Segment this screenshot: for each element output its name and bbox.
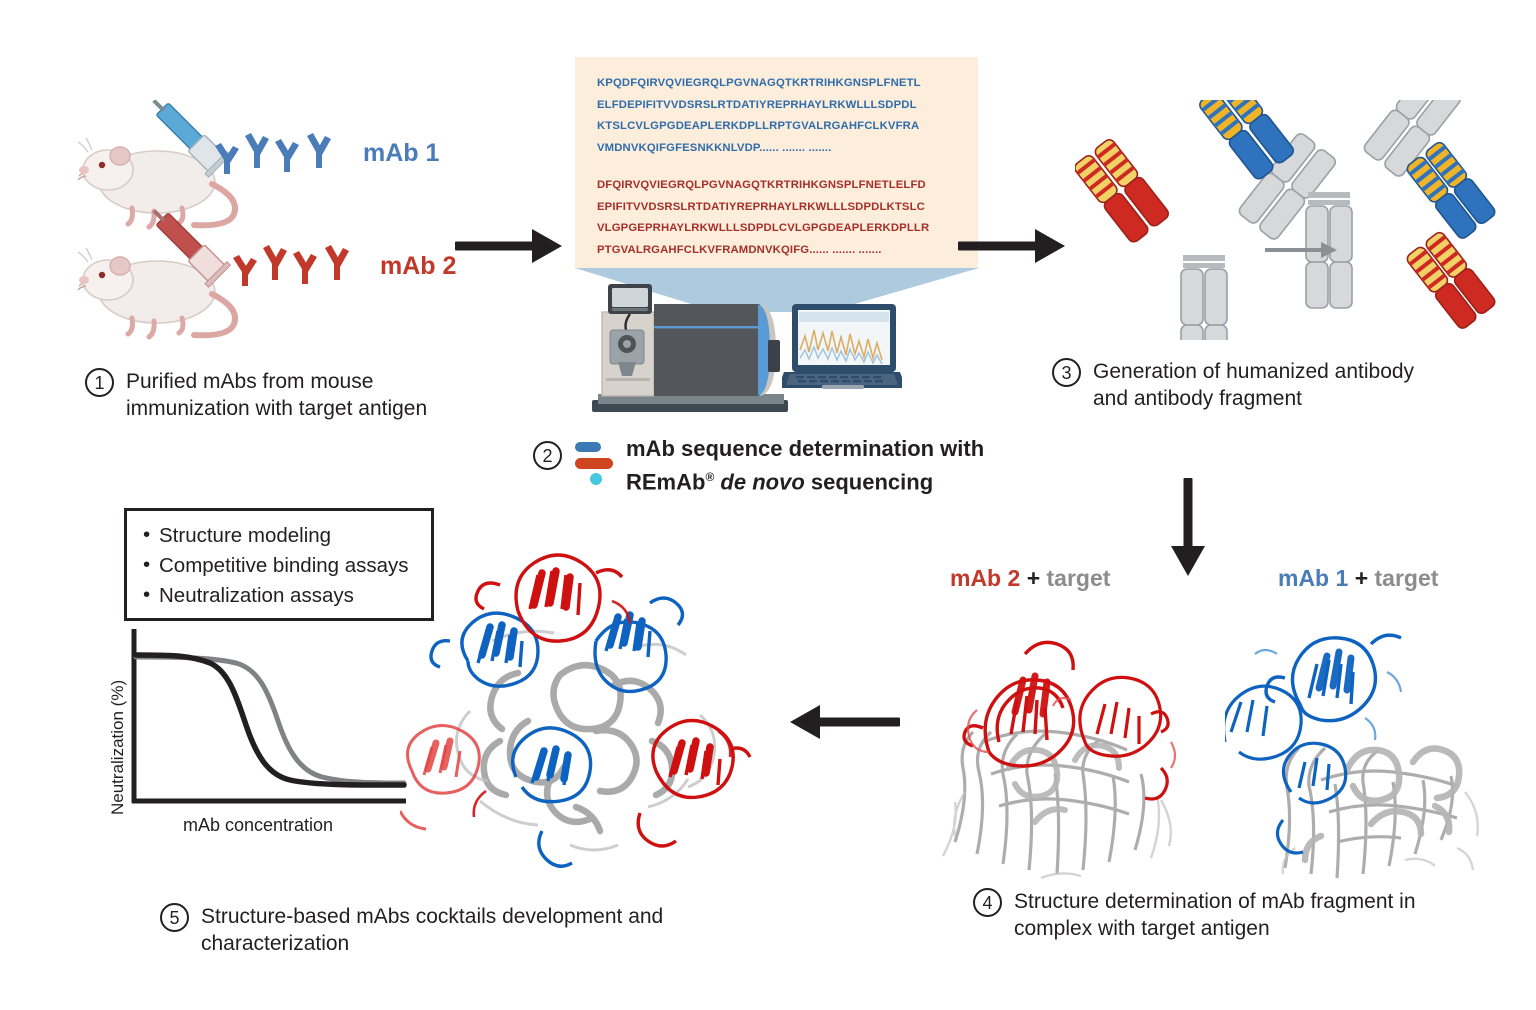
structure-right-label-target: target (1375, 565, 1439, 591)
step4-caption-group: 4 Structure determination of mAb fragmen… (973, 888, 1416, 942)
sequence-red-block: DFQIRVQVIEGRQLPGVNAGQTKRTRIHKGNSPLFNETLE… (597, 175, 956, 261)
step5-caption-line2: characterization (201, 930, 663, 957)
sequence-blue-block: KPQDFQIRVQVIEGRQLPGVNAGQTKRTRIHKGNSPLFNE… (597, 73, 956, 159)
step2-caption-line2: REmAb® de novo sequencing (626, 463, 984, 496)
step2-caption-group: 2 mAb sequence determination with REmAb®… (533, 432, 984, 496)
step4-caption-line2: complex with target antigen (1014, 915, 1416, 942)
structure-cocktail-complex (400, 545, 780, 895)
registered-mark: ® (705, 470, 714, 484)
structure-left-label-mab: mAb 2 (950, 565, 1020, 591)
structure-left-label-target: target (1047, 565, 1111, 591)
step1-caption-line2: immunization with target antigen (126, 395, 427, 422)
step3-caption-line2: and antibody fragment (1093, 385, 1414, 412)
structure-right-label: mAb 1 + target (1278, 565, 1438, 592)
step4-number: 4 (973, 888, 1002, 917)
mab2-label: mAb 2 (380, 252, 456, 281)
de-novo-italic: de novo (720, 469, 804, 494)
chart-series-curve-2 (136, 657, 404, 783)
step5-caption-group: 5 Structure-based mAbs cocktails develop… (160, 903, 663, 957)
remab-brand: REmAb (626, 469, 705, 494)
step2-number: 2 (533, 441, 562, 470)
sequence-blue-line: KTSLCVLGPGDEAPLERKDPLLRPTGVALRGAHFCLKVFR… (597, 116, 956, 138)
mab2-antibody-glyphs (228, 240, 378, 298)
assay-item: Structure modeling (143, 521, 417, 551)
remab-logo-icon (573, 438, 615, 488)
structure-mab1-target (1225, 592, 1495, 882)
mab1-antibody-glyphs (210, 128, 360, 186)
step1-caption-group: 1 Purified mAbs from mouse immunization … (85, 368, 427, 422)
step5-caption-line1: Structure-based mAbs cocktails developme… (201, 903, 663, 930)
step1-number: 1 (85, 368, 114, 397)
structure-mab2-target (925, 592, 1195, 882)
sequence-blue-line: VMDNVKQIFGFESNKKNLVDP...... ....... ....… (597, 138, 956, 160)
assay-list-box: Structure modeling Competitive binding a… (124, 508, 434, 621)
chart-x-axis-label: mAb concentration (138, 815, 378, 836)
step5-number: 5 (160, 903, 189, 932)
laptop-illustration (782, 300, 902, 410)
step4-caption-line1: Structure determination of mAb fragment … (1014, 888, 1416, 915)
sequence-red-line: EPIFITVVDSRSLRTDATIYREPRHAYLRKWLLLSDPDLK… (597, 197, 956, 219)
sequence-gap (597, 159, 956, 175)
step3-caption-line1: Generation of humanized antibody (1093, 358, 1414, 385)
mab1-label: mAb 1 (363, 139, 439, 168)
chart-plot (118, 625, 408, 825)
sequencing-word: sequencing (811, 469, 933, 494)
chart-series-curve-1 (136, 655, 404, 785)
sequence-red-line: PTGVALRGAHFCLKVFRAMDNVKQIFG...... ......… (597, 240, 956, 262)
plus-sign: + (1027, 565, 1040, 591)
sequence-blue-line: ELFDEPIFITVVDSRSLRTDATIYREPRHAYLRKWLLLSD… (597, 95, 956, 117)
step3-caption-group: 3 Generation of humanized antibody and a… (1052, 358, 1414, 412)
assay-item: Neutralization assays (143, 581, 417, 611)
step1-caption-line1: Purified mAbs from mouse (126, 368, 427, 395)
sequence-red-line: DFQIRVQVIEGRQLPGVNAGQTKRTRIHKGNSPLFNETLE… (597, 175, 956, 197)
neutralization-chart: Neutralization (%) mAb concentration (90, 625, 410, 840)
sequence-panel: KPQDFQIRVQVIEGRQLPGVNAGQTKRTRIHKGNSPLFNE… (575, 57, 978, 269)
step2-caption-line1: mAb sequence determination with (626, 435, 984, 463)
mass-spectrometer-illustration (578, 282, 798, 422)
assay-list: Structure modeling Competitive binding a… (143, 521, 417, 611)
assay-item: Competitive binding assays (143, 551, 417, 581)
humanized-antibody-illustration (1075, 100, 1515, 340)
structure-left-label: mAb 2 + target (950, 565, 1110, 592)
sequence-blue-line: KPQDFQIRVQVIEGRQLPGVNAGQTKRTRIHKGNSPLFNE… (597, 73, 956, 95)
structure-right-label-mab: mAb 1 (1278, 565, 1348, 591)
step3-number: 3 (1052, 358, 1081, 387)
sequence-red-line: VLGPGEPRHAYLRKWLLLSDPDLCVLGPGDEAPLERKDPL… (597, 218, 956, 240)
plus-sign: + (1355, 565, 1368, 591)
